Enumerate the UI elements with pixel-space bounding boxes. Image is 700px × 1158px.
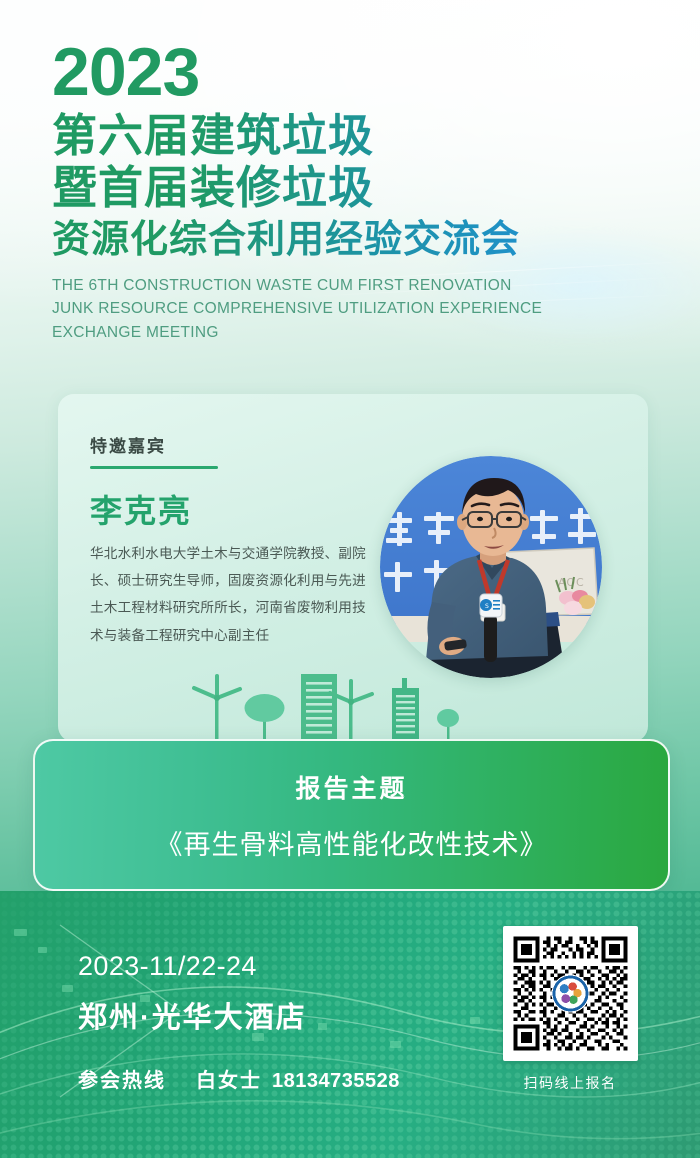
guest-name: 李克亮 [90,486,192,532]
guest-bio: 华北水利水电大学土木与交通学院教授、副院长、硕士研究生导师，固废资源化利用与先进… [90,540,378,649]
speaker-photo-svg: AOC [380,456,602,678]
hotline-person: 白女士 [196,1064,262,1093]
contact-hotline: 参会热线 白女士 18134735528 [78,1064,400,1093]
speaker-photo: AOC [380,456,602,678]
event-date: 2023-11/22-24 [78,951,257,982]
year-text: 2023 [52,40,672,105]
topic-title: 《再生骨料高性能化改性技术》 [156,823,548,862]
report-topic-banner: 报告主题 《再生骨料高性能化改性技术》 [33,739,670,891]
topic-label: 报告主题 [295,769,407,805]
title-line-3: 资源化综合利用经验交流会 [52,219,672,262]
svg-text:S: S [485,603,489,610]
event-venue: 郑州·光华大酒店 [78,994,307,1036]
conference-poster: 2023 第六届建筑垃圾 暨首届装修垃圾 资源化综合利用经验交流会 THE 6T… [0,0,700,1158]
guest-speaker-card: 特邀嘉宾 李克亮 华北水利水电大学土木与交通学院教授、副院长、硕士研究生导师，固… [58,394,648,742]
qr-registration-block[interactable]: 扫码线上报名 [495,926,645,1093]
english-subtitle-line-3: EXCHANGE MEETING [52,321,672,345]
english-subtitle: THE 6TH CONSTRUCTION WASTE CUM FIRST REN… [52,274,672,345]
qr-caption: 扫码线上报名 [495,1073,645,1093]
hotline-number[interactable]: 18134735528 [272,1070,400,1093]
eco-skyline-decoration [58,672,648,742]
poster-headline: 2023 第六届建筑垃圾 暨首届装修垃圾 资源化综合利用经验交流会 THE 6T… [52,40,672,345]
hotline-label: 参会热线 [78,1064,166,1093]
english-subtitle-line-1: THE 6TH CONSTRUCTION WASTE CUM FIRST REN… [52,274,672,298]
guest-label-group: 特邀嘉宾 [90,432,218,469]
guest-label: 特邀嘉宾 [90,432,218,457]
title-line-1: 第六届建筑垃圾 [52,111,672,161]
english-subtitle-line-2: JUNK RESOURCE COMPREHENSIVE UTILIZATION … [52,297,672,321]
title-line-2: 暨首届装修垃圾 [52,163,672,213]
event-info-panel: 2023-11/22-24 郑州·光华大酒店 参会热线 白女士 18134735… [0,891,700,1158]
guest-divider [90,466,218,469]
qr-code-svg [510,933,631,1054]
qr-code[interactable] [503,926,638,1061]
